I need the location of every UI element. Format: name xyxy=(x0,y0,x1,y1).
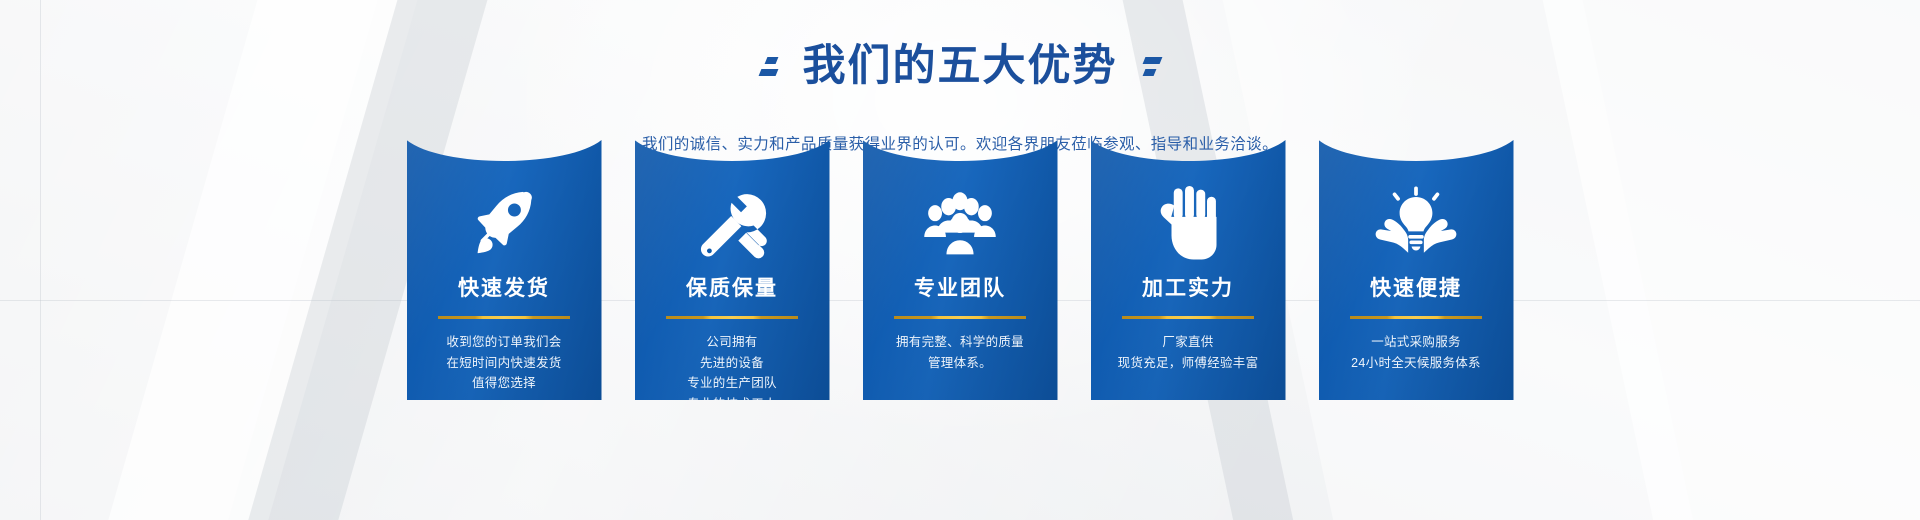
gold-divider xyxy=(666,316,798,319)
advantage-card-list: 快速发货 收到您的订单我们会 在短时间内快速发货 值得您选择 保质保量 xyxy=(0,140,1920,400)
advantage-card-line: 先进的设备 xyxy=(635,353,830,374)
advantage-card-line: 值得您选择 xyxy=(407,373,602,394)
gold-divider xyxy=(1122,316,1254,319)
advantage-card-title: 快速发货 xyxy=(407,272,602,302)
advantage-card-body: 一站式采购服务 24小时全天候服务体系 xyxy=(1319,332,1514,373)
advantage-card-line: 专业的生产团队 xyxy=(635,373,830,394)
advantages-banner: 我们的五大优势 我们的诚信、实力和产品质量获得业界的认可。欢迎各界朋友莅临参观、… xyxy=(0,0,1920,520)
team-icon xyxy=(863,178,1058,270)
advantage-card-line: 专业的技术工人 xyxy=(635,394,830,400)
advantage-card[interactable]: 加工实力 厂家直供 现货充足，师傅经验丰富 xyxy=(1091,140,1286,400)
advantage-card-title: 加工实力 xyxy=(1091,272,1286,302)
advantage-card-line: 厂家直供 xyxy=(1091,332,1286,353)
advantage-card-body: 收到您的订单我们会 在短时间内快速发货 值得您选择 xyxy=(407,332,602,394)
advantage-card-title: 快速便捷 xyxy=(1319,272,1514,302)
advantage-card[interactable]: 快速发货 收到您的订单我们会 在短时间内快速发货 值得您选择 xyxy=(407,140,602,400)
title-decoration-right-icon xyxy=(1144,57,1161,76)
advantage-card-line: 一站式采购服务 xyxy=(1319,332,1514,353)
advantage-card-line: 现货充足，师傅经验丰富 xyxy=(1091,353,1286,374)
title-row: 我们的五大优势 xyxy=(0,14,1920,118)
tools-icon xyxy=(635,178,830,270)
title-decoration-left-icon xyxy=(760,57,777,76)
advantage-card-line: 公司拥有 xyxy=(635,332,830,353)
idea-hands-icon xyxy=(1319,178,1514,270)
advantage-card[interactable]: 专业团队 拥有完整、科学的质量 管理体系。 xyxy=(863,140,1058,400)
fist-icon xyxy=(1091,178,1286,270)
advantage-card[interactable]: 保质保量 公司拥有 先进的设备 专业的生产团队 专业的技术工人 xyxy=(635,140,830,400)
advantage-card[interactable]: 快速便捷 一站式采购服务 24小时全天候服务体系 xyxy=(1319,140,1514,400)
page-title: 我们的五大优势 xyxy=(803,43,1118,89)
rocket-icon xyxy=(407,178,602,270)
gold-divider xyxy=(894,316,1026,319)
advantage-card-body: 厂家直供 现货充足，师傅经验丰富 xyxy=(1091,332,1286,373)
section-header: 我们的五大优势 我们的诚信、实力和产品质量获得业界的认可。欢迎各界朋友莅临参观、… xyxy=(0,14,1920,154)
gold-divider xyxy=(1350,316,1482,319)
advantage-card-body: 公司拥有 先进的设备 专业的生产团队 专业的技术工人 xyxy=(635,332,830,400)
advantage-card-body: 拥有完整、科学的质量 管理体系。 xyxy=(863,332,1058,373)
advantage-card-line: 收到您的订单我们会 xyxy=(407,332,602,353)
advantage-card-line: 24小时全天候服务体系 xyxy=(1319,353,1514,374)
advantage-card-title: 保质保量 xyxy=(635,272,830,302)
advantage-card-title: 专业团队 xyxy=(863,272,1058,302)
advantage-card-line: 拥有完整、科学的质量 xyxy=(863,332,1058,353)
advantage-card-line: 在短时间内快速发货 xyxy=(407,353,602,374)
advantage-card-line: 管理体系。 xyxy=(863,353,1058,374)
gold-divider xyxy=(438,316,570,319)
